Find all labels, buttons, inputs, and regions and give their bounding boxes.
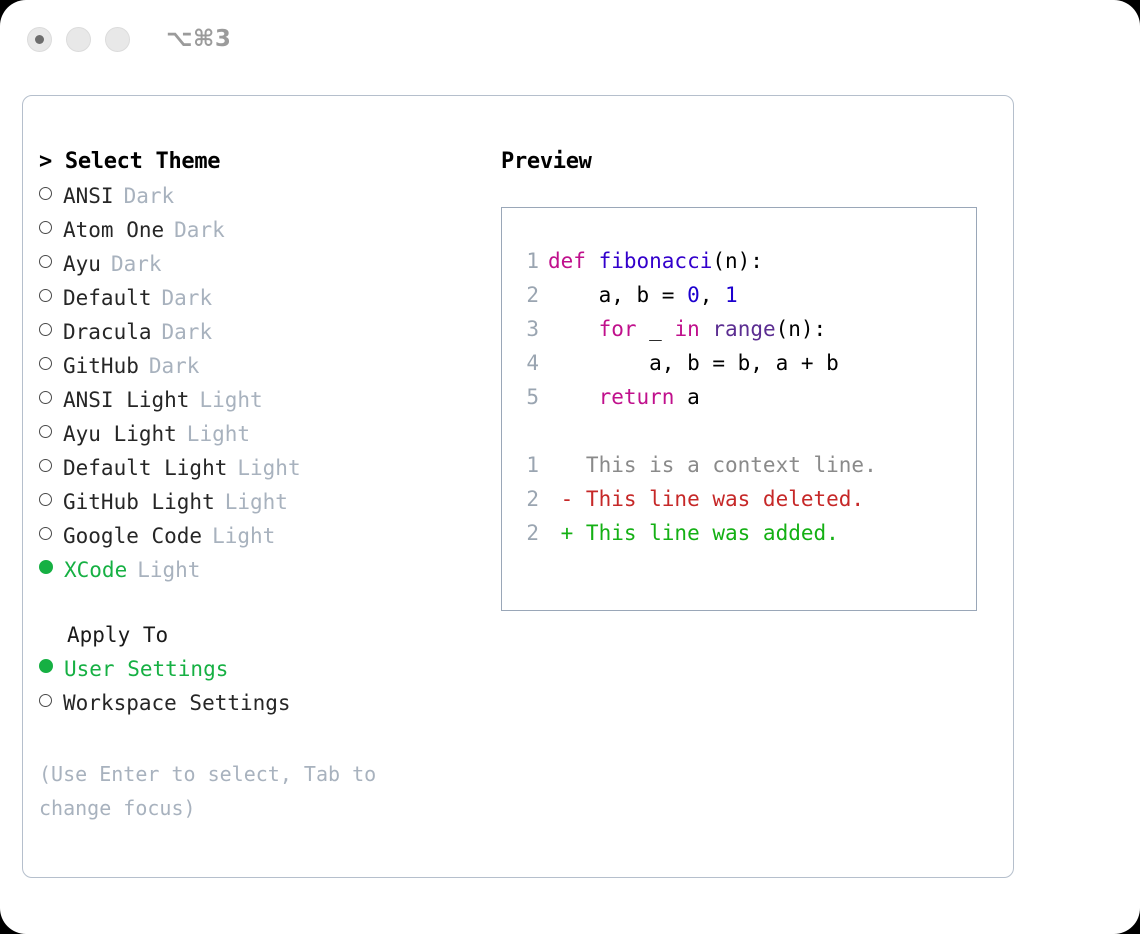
theme-option-ayu[interactable]: AyuDark: [39, 252, 489, 286]
code-token-call: range: [712, 317, 775, 341]
preview-box: 1def fibonacci(n):2 a, b = 0, 13 for _ i…: [501, 207, 977, 611]
code-token-plain: (n):: [776, 317, 827, 341]
theme-option-kind-badge: Light: [212, 524, 275, 548]
code-token-kw: return: [599, 385, 675, 409]
maximize-button-icon[interactable]: [105, 27, 130, 52]
code-token-plain: (n):: [712, 249, 763, 273]
preview-column: Preview 1def fibonacci(n):2 a, b = 0, 13…: [501, 149, 996, 611]
theme-option-default-light[interactable]: Default LightLight: [39, 456, 489, 490]
close-dot: [35, 35, 44, 44]
theme-option-label: Atom One: [63, 218, 164, 242]
diff-line-text: + This line was added.: [548, 516, 839, 550]
preview-title: Preview: [501, 149, 996, 174]
theme-list: ANSIDarkAtom OneDarkAyuDarkDefaultDarkDr…: [39, 184, 489, 592]
theme-option-kind-badge: Dark: [111, 252, 162, 276]
code-line: 3 for _ in range(n):: [502, 312, 976, 346]
radio-unselected-icon: [39, 391, 52, 404]
theme-option-label: ANSI Light: [63, 388, 189, 412]
theme-option-google-code[interactable]: Google CodeLight: [39, 524, 489, 558]
theme-list-column: > Select Theme ANSIDarkAtom OneDarkAyuDa…: [39, 149, 489, 825]
theme-option-kind-badge: Dark: [174, 218, 225, 242]
theme-option-dracula[interactable]: DraculaDark: [39, 320, 489, 354]
apply-to-option-label: Workspace Settings: [63, 691, 291, 715]
radio-unselected-icon: [39, 289, 52, 302]
theme-option-label: Ayu Light: [63, 422, 177, 446]
radio-selected-icon: [39, 659, 53, 673]
apply-to-option-workspace-settings[interactable]: Workspace Settings: [39, 691, 489, 725]
theme-option-label: GitHub: [63, 354, 139, 378]
theme-option-kind-badge: Dark: [124, 184, 175, 208]
theme-option-ansi-light[interactable]: ANSI LightLight: [39, 388, 489, 422]
minimize-button-icon[interactable]: [66, 27, 91, 52]
radio-unselected-icon: [39, 323, 52, 336]
diff-sample: 1 This is a context line.2 - This line w…: [502, 448, 976, 550]
page-title: > Select Theme: [39, 149, 489, 174]
theme-option-kind-badge: Dark: [162, 320, 213, 344]
code-line-text: a, b = b, a + b: [548, 346, 839, 380]
theme-option-label: Default: [63, 286, 152, 310]
radio-selected-icon: [39, 560, 53, 574]
code-token-plain: a, b = b, a + b: [548, 351, 839, 375]
keyboard-hint-text: (Use Enter to select, Tab to change focu…: [39, 757, 449, 825]
radio-unselected-icon: [39, 187, 52, 200]
code-token-num: 1: [725, 283, 738, 307]
code-token-plain: [548, 385, 599, 409]
apply-to-option-user-settings[interactable]: User Settings: [39, 657, 489, 691]
keyboard-shortcut-label: ⌥⌘3: [166, 26, 231, 52]
theme-option-xcode[interactable]: XCodeLight: [39, 558, 489, 592]
radio-unselected-icon: [39, 425, 52, 438]
diff-line-number: 1: [502, 448, 548, 482]
diff-line-number: 2: [502, 482, 548, 516]
code-token-plain: a: [674, 385, 699, 409]
code-line: 4 a, b = b, a + b: [502, 346, 976, 380]
theme-option-label: Dracula: [63, 320, 152, 344]
code-token-plain: _: [637, 317, 675, 341]
theme-option-ayu-light[interactable]: Ayu LightLight: [39, 422, 489, 456]
apply-to-list: User SettingsWorkspace Settings: [39, 657, 489, 725]
code-line-text: return a: [548, 380, 700, 414]
diff-line-number: 2: [502, 516, 548, 550]
code-token-kw: for: [599, 317, 637, 341]
theme-option-kind-badge: Dark: [149, 354, 200, 378]
code-line-text: for _ in range(n):: [548, 312, 826, 346]
code-token-kw: in: [674, 317, 699, 341]
code-line-number: 4: [502, 346, 548, 380]
theme-option-kind-badge: Light: [187, 422, 250, 446]
code-line-text: a, b = 0, 1: [548, 278, 738, 312]
code-token-num: 0: [687, 283, 700, 307]
traffic-light-group: [27, 27, 130, 52]
diff-line-text: This is a context line.: [548, 448, 877, 482]
theme-option-kind-badge: Light: [137, 558, 200, 582]
theme-option-label: XCode: [64, 558, 127, 582]
code-token-kw: def: [548, 249, 599, 273]
apply-to-section: Apply To User SettingsWorkspace Settings: [39, 623, 489, 725]
theme-option-label: Google Code: [63, 524, 202, 548]
code-line-number: 1: [502, 244, 548, 278]
theme-option-label: GitHub Light: [63, 490, 215, 514]
code-token-plain: [700, 317, 713, 341]
theme-option-github[interactable]: GitHubDark: [39, 354, 489, 388]
code-sample: 1def fibonacci(n):2 a, b = 0, 13 for _ i…: [502, 244, 976, 414]
theme-option-atom-one[interactable]: Atom OneDark: [39, 218, 489, 252]
code-line-text: def fibonacci(n):: [548, 244, 763, 278]
radio-unselected-icon: [39, 221, 52, 234]
theme-option-default[interactable]: DefaultDark: [39, 286, 489, 320]
theme-option-label: ANSI: [63, 184, 114, 208]
close-button-icon[interactable]: [27, 27, 52, 52]
radio-unselected-icon: [39, 493, 52, 506]
code-token-plain: a, b =: [548, 283, 687, 307]
theme-option-label: Default Light: [63, 456, 227, 480]
theme-option-kind-badge: Light: [225, 490, 288, 514]
theme-option-ansi[interactable]: ANSIDark: [39, 184, 489, 218]
radio-unselected-icon: [39, 255, 52, 268]
code-token-fn: fibonacci: [599, 249, 713, 273]
diff-line: 1 This is a context line.: [502, 448, 976, 482]
theme-option-kind-badge: Light: [199, 388, 262, 412]
theme-selector-panel: > Select Theme ANSIDarkAtom OneDarkAyuDa…: [22, 95, 1014, 878]
theme-option-github-light[interactable]: GitHub LightLight: [39, 490, 489, 524]
code-line-number: 5: [502, 380, 548, 414]
code-line-number: 2: [502, 278, 548, 312]
radio-unselected-icon: [39, 694, 52, 707]
app-window: ⌥⌘3 > Select Theme ANSIDarkAtom OneDarkA…: [0, 0, 1140, 934]
radio-unselected-icon: [39, 527, 52, 540]
code-line: 2 a, b = 0, 1: [502, 278, 976, 312]
apply-to-title: Apply To: [67, 623, 489, 657]
code-token-plain: ,: [700, 283, 725, 307]
theme-option-kind-badge: Light: [237, 456, 300, 480]
code-line: 5 return a: [502, 380, 976, 414]
radio-unselected-icon: [39, 357, 52, 370]
theme-option-label: Ayu: [63, 252, 101, 276]
theme-option-kind-badge: Dark: [162, 286, 213, 310]
code-token-plain: [548, 317, 599, 341]
code-spacer: [502, 414, 976, 448]
diff-line: 2 + This line was added.: [502, 516, 976, 550]
diff-line-text: - This line was deleted.: [548, 482, 864, 516]
code-line: 1def fibonacci(n):: [502, 244, 976, 278]
apply-to-option-label: User Settings: [64, 657, 228, 681]
window-titlebar: ⌥⌘3: [0, 0, 1140, 78]
diff-line: 2 - This line was deleted.: [502, 482, 976, 516]
code-line-number: 3: [502, 312, 548, 346]
radio-unselected-icon: [39, 459, 52, 472]
